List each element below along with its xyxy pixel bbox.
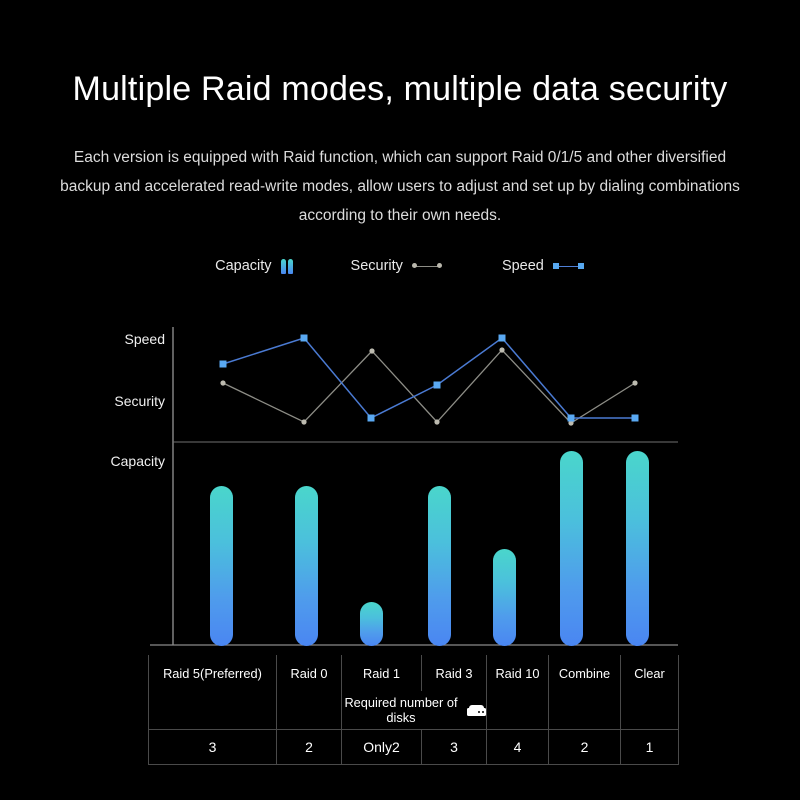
security-point	[301, 419, 306, 424]
required-disks-label: Required number of disks	[342, 695, 460, 725]
security-point	[499, 347, 504, 352]
mode-name-cell: Raid 0	[277, 655, 342, 691]
legend-item-security[interactable]: Security	[351, 258, 444, 274]
table-row-mode-names: Raid 5(Preferred) Raid 0 Raid 1 Raid 3 R…	[149, 655, 679, 691]
security-point	[632, 380, 637, 385]
bar-raid0	[295, 486, 318, 646]
bar-combine	[560, 451, 583, 646]
speed-point	[368, 415, 375, 422]
spacer-cell	[149, 691, 277, 730]
mode-name-cell: Raid 5(Preferred)	[149, 655, 277, 691]
legend-label-speed: Speed	[502, 258, 544, 274]
disk-count-cell: 1	[621, 730, 679, 765]
axis-tick-capacity: Capacity	[40, 453, 165, 469]
mode-name-cell: Combine	[549, 655, 621, 691]
security-line-series	[220, 347, 637, 425]
page-subtitle: Each version is equipped with Raid funct…	[60, 143, 740, 230]
disk-count-cell: 2	[549, 730, 621, 765]
legend-item-speed[interactable]: Speed	[502, 258, 585, 274]
line-square-icon	[553, 261, 585, 271]
bar-raid1	[360, 602, 383, 646]
bar-clear	[626, 451, 649, 646]
disk-count-cell: 3	[422, 730, 487, 765]
spacer-cell	[549, 691, 621, 730]
legend-label-capacity: Capacity	[215, 258, 271, 274]
mode-name-cell: Raid 10	[487, 655, 549, 691]
raid-modes-table: Raid 5(Preferred) Raid 0 Raid 1 Raid 3 R…	[148, 655, 679, 765]
speed-point	[434, 382, 441, 389]
mode-name-cell: Clear	[621, 655, 679, 691]
speed-point	[499, 335, 506, 342]
table-row-required-label: Required number of disks	[149, 691, 679, 730]
speed-point	[568, 415, 575, 422]
page-title: Multiple Raid modes, multiple data secur…	[0, 70, 800, 109]
security-point	[369, 348, 374, 353]
security-point	[220, 380, 225, 385]
axis-tick-speed: Speed	[40, 331, 165, 347]
disk-count-cell: Only2	[342, 730, 422, 765]
speed-point	[220, 361, 227, 368]
spacer-cell	[277, 691, 342, 730]
page-root: Multiple Raid modes, multiple data secur…	[0, 0, 800, 800]
disk-enclosure-icon	[467, 704, 486, 716]
legend-label-security: Security	[351, 258, 403, 274]
disk-count-cell: 3	[149, 730, 277, 765]
bar-raid10	[493, 549, 516, 646]
line-dot-icon	[412, 261, 444, 271]
disk-count-cell: 4	[487, 730, 549, 765]
disk-count-cell: 2	[277, 730, 342, 765]
spacer-cell	[621, 691, 679, 730]
axis-tick-security: Security	[40, 393, 165, 409]
capacity-bars	[210, 451, 649, 646]
legend-item-capacity[interactable]: Capacity	[215, 258, 292, 274]
chart-legend: Capacity Security Speed	[0, 258, 800, 274]
bar-chart-icon	[281, 259, 293, 274]
security-point	[568, 420, 573, 425]
bar-raid5	[210, 486, 233, 646]
speed-point	[632, 415, 639, 422]
table-row-disk-counts: 3 2 Only2 3 4 2 1	[149, 730, 679, 765]
speed-line-series	[220, 335, 639, 422]
mode-name-cell: Raid 3	[422, 655, 487, 691]
required-disks-cell: Required number of disks	[342, 691, 487, 730]
spacer-cell	[487, 691, 549, 730]
bar-raid3	[428, 486, 451, 646]
security-point	[434, 419, 439, 424]
mode-name-cell: Raid 1	[342, 655, 422, 691]
speed-point	[301, 335, 308, 342]
